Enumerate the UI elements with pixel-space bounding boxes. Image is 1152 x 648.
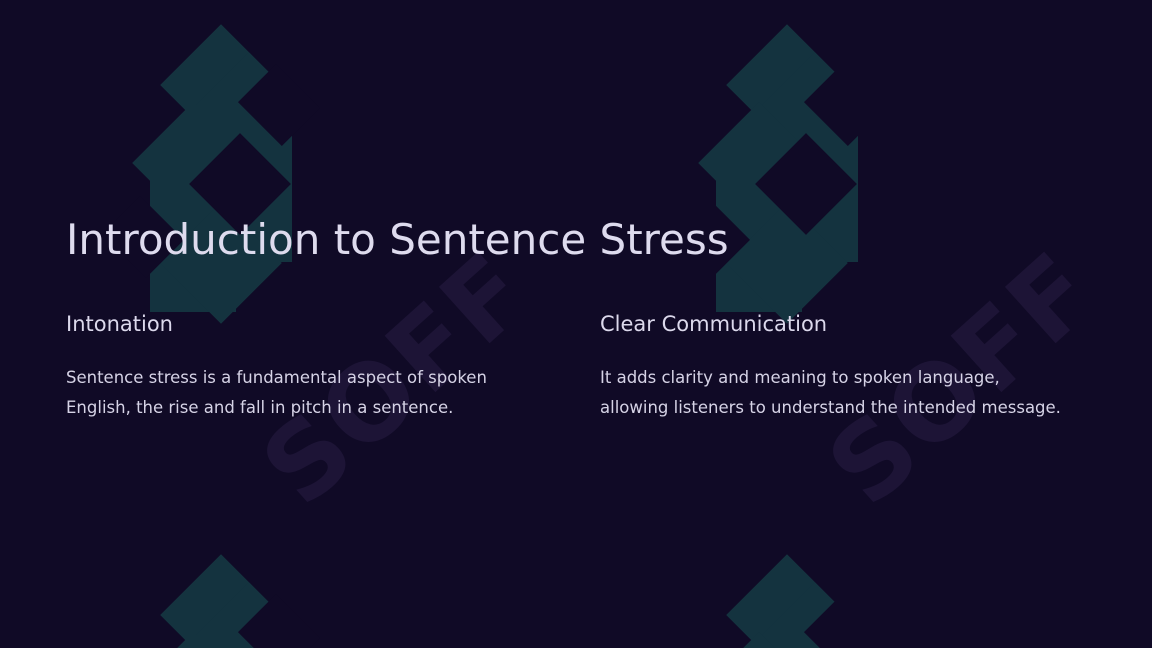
column-heading: Clear Communication: [600, 312, 1072, 337]
column-intonation: Intonation Sentence stress is a fundamen…: [66, 312, 538, 423]
presentation-slide: SOFF SOFF SOFF SOFF: [0, 0, 1152, 648]
column-paragraph: Sentence stress is a fundamental aspect …: [66, 363, 538, 423]
slide-content: Introduction to Sentence Stress Intonati…: [0, 0, 1152, 648]
column-heading: Intonation: [66, 312, 538, 337]
page-title: Introduction to Sentence Stress: [66, 216, 729, 264]
column-clear-communication: Clear Communication It adds clarity and …: [600, 312, 1072, 423]
column-paragraph: It adds clarity and meaning to spoken la…: [600, 363, 1072, 423]
two-column-body: Intonation Sentence stress is a fundamen…: [66, 312, 1088, 423]
